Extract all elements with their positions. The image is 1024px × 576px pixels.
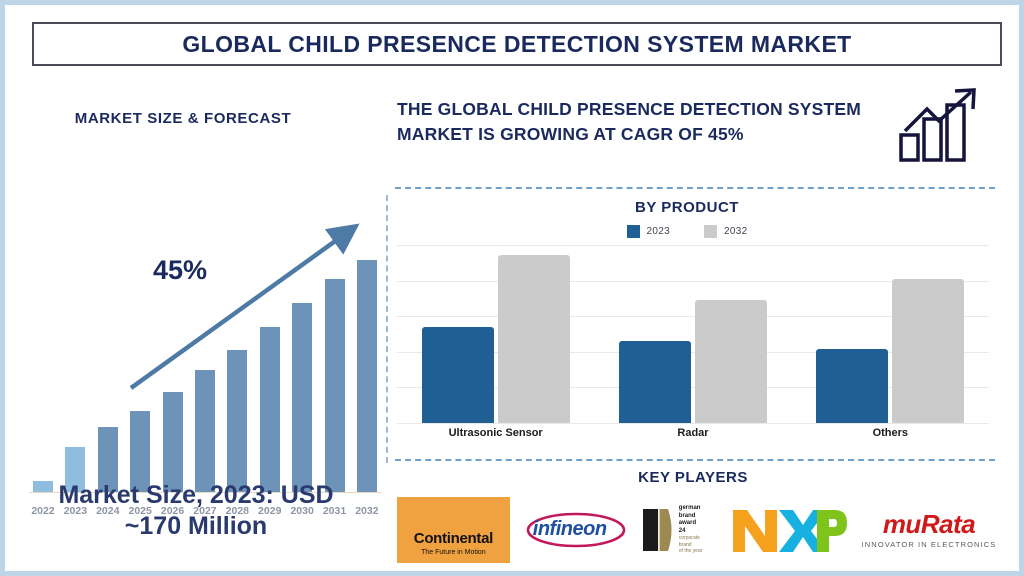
murata-tagline: INNOVATOR IN ELECTRONICS bbox=[862, 540, 997, 549]
market-size-value: Market Size, 2023: USD ~170 Million bbox=[13, 480, 379, 543]
bar-others-2032 bbox=[892, 279, 964, 423]
bar-2030 bbox=[292, 303, 312, 492]
gba-sub-1: corporate bbox=[679, 535, 703, 542]
product-bar-groups bbox=[397, 245, 989, 423]
divider-bottom bbox=[395, 459, 995, 461]
by-product-title: BY PRODUCT bbox=[397, 199, 977, 216]
logo-infineon[interactable]: infineon bbox=[524, 505, 628, 555]
market-size-bar bbox=[288, 303, 316, 492]
infographic-page: GLOBAL CHILD PRESENCE DETECTION SYSTEM M… bbox=[0, 0, 1024, 576]
continental-tagline: The Future in Motion bbox=[421, 549, 486, 556]
gba-line-4: 24 bbox=[679, 528, 703, 536]
infineon-name: infineon bbox=[533, 518, 607, 541]
gba-book-icon bbox=[642, 506, 676, 554]
legend-label-2032: 2032 bbox=[724, 226, 747, 237]
legend-swatch-2032 bbox=[704, 225, 717, 238]
bar-2027 bbox=[195, 370, 215, 492]
market-size-bar bbox=[191, 370, 219, 492]
bar-ultrasonic-sensor-2032 bbox=[498, 255, 570, 423]
logo-nxp[interactable] bbox=[731, 506, 847, 554]
nxp-wordmark-icon bbox=[731, 506, 847, 554]
market-size-panel: MARKET SIZE & FORECAST 45% 2022202320242… bbox=[13, 80, 385, 570]
product-plot-area bbox=[397, 245, 989, 423]
logo-german-brand-award[interactable]: german brand award 24 corporate brand of… bbox=[642, 503, 717, 557]
market-size-line-1: Market Size, 2023: USD bbox=[13, 480, 379, 511]
legend-label-2023: 2023 bbox=[647, 226, 670, 237]
bar-2032 bbox=[357, 260, 377, 492]
market-size-bar bbox=[353, 260, 381, 492]
market-size-bar bbox=[321, 279, 349, 493]
category-label-radar: Radar bbox=[604, 427, 782, 439]
bar-2028 bbox=[227, 350, 247, 492]
gridline bbox=[397, 423, 989, 424]
legend-item-2032[interactable]: 2032 bbox=[704, 225, 747, 238]
gba-line-2: brand bbox=[679, 513, 703, 521]
headline-text: THE GLOBAL CHILD PRESENCE DETECTION SYST… bbox=[397, 97, 887, 148]
market-size-bar bbox=[159, 392, 187, 492]
bar-2026 bbox=[163, 392, 183, 492]
page-title-box: GLOBAL CHILD PRESENCE DETECTION SYSTEM M… bbox=[32, 22, 1002, 66]
growth-chart-icon bbox=[897, 87, 983, 163]
logo-continental[interactable]: Continental The Future in Motion bbox=[397, 497, 510, 563]
bar-others-2023 bbox=[816, 349, 888, 423]
bar-group-radar bbox=[604, 300, 782, 423]
bar-ultrasonic-sensor-2023 bbox=[422, 327, 494, 423]
key-players-title: KEY PLAYERS bbox=[397, 469, 989, 486]
bar-radar-2023 bbox=[619, 341, 691, 423]
bar-radar-2032 bbox=[695, 300, 767, 423]
gba-text-block: german brand award 24 corporate brand of… bbox=[679, 505, 703, 555]
bar-2031 bbox=[325, 279, 345, 493]
vertical-divider bbox=[386, 195, 388, 463]
market-size-line-2: ~170 Million bbox=[13, 511, 379, 542]
gba-line-1: german bbox=[679, 505, 703, 513]
legend-item-2023[interactable]: 2023 bbox=[627, 225, 670, 238]
divider-top bbox=[395, 187, 995, 189]
product-chart-legend: 20232032 bbox=[397, 225, 977, 238]
key-players-logos: Continental The Future in Motion infineo… bbox=[397, 491, 997, 569]
category-label-others: Others bbox=[801, 427, 979, 439]
market-size-heading: MARKET SIZE & FORECAST bbox=[13, 110, 353, 127]
bar-group-others bbox=[801, 279, 979, 423]
market-size-bar bbox=[256, 327, 284, 492]
market-size-bar bbox=[223, 350, 251, 492]
by-product-chart: Ultrasonic SensorRadarOthers bbox=[397, 245, 989, 445]
legend-swatch-2023 bbox=[627, 225, 640, 238]
product-category-labels: Ultrasonic SensorRadarOthers bbox=[397, 427, 989, 439]
page-title: GLOBAL CHILD PRESENCE DETECTION SYSTEM M… bbox=[182, 31, 851, 58]
gba-sub-3: of the year bbox=[679, 548, 703, 555]
category-label-ultrasonic-sensor: Ultrasonic Sensor bbox=[407, 427, 585, 439]
bar-group-ultrasonic-sensor bbox=[407, 255, 585, 423]
continental-name: Continental bbox=[414, 530, 493, 547]
gba-line-3: award bbox=[679, 520, 703, 528]
murata-name: muRata bbox=[883, 511, 975, 537]
bar-2029 bbox=[260, 327, 280, 492]
market-size-bars bbox=[29, 243, 381, 493]
logo-murata[interactable]: muRata INNOVATOR IN ELECTRONICS bbox=[861, 504, 997, 556]
right-panel: THE GLOBAL CHILD PRESENCE DETECTION SYST… bbox=[397, 87, 997, 567]
